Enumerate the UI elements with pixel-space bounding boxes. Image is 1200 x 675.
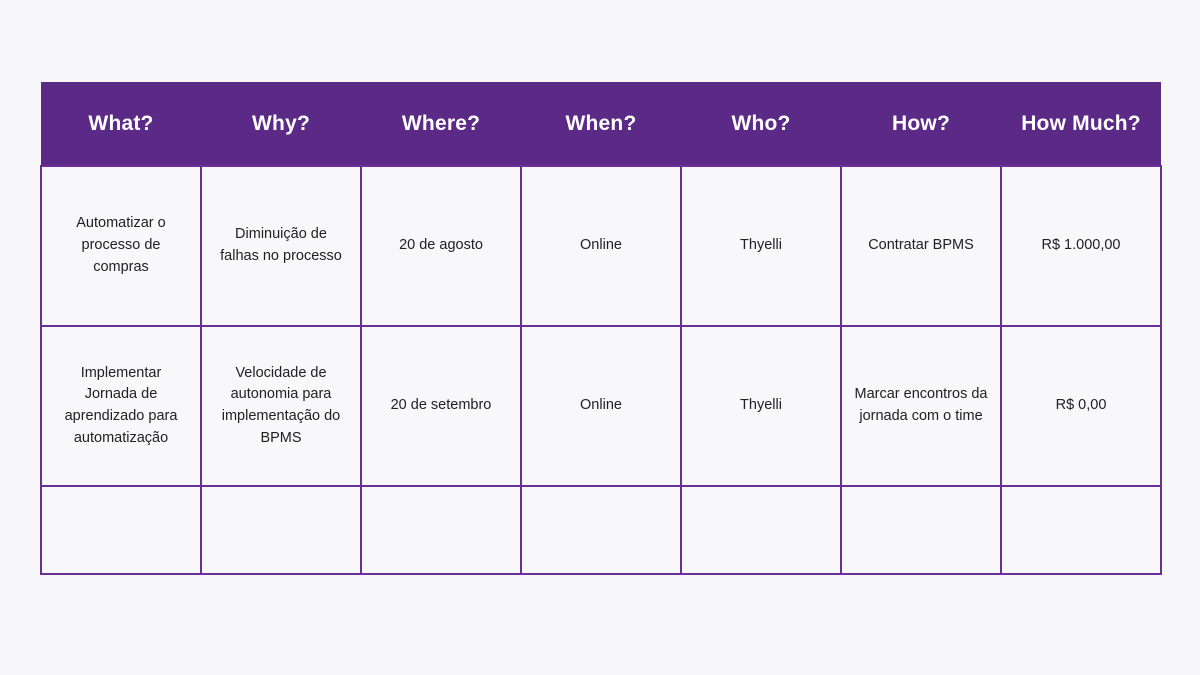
cell-how[interactable]: Contratar BPMS — [841, 166, 1001, 326]
table-container: What? Why? Where? When? Who? How? How Mu… — [40, 82, 1160, 575]
cell-text: Contratar BPMS — [854, 235, 988, 257]
cell-who[interactable] — [681, 486, 841, 574]
cell-text: Implementar Jornada de aprendizado para … — [54, 363, 188, 450]
cell-when[interactable] — [521, 486, 681, 574]
cell-why[interactable]: Velocidade de autonomia para implementaç… — [201, 326, 361, 486]
cell-text: Automatizar o processo de compras — [54, 213, 188, 278]
table-row — [41, 486, 1161, 574]
cell-text: Online — [534, 235, 668, 257]
cell-text: Marcar encontros da jornada com o time — [854, 384, 988, 428]
table-header-row: What? Why? Where? When? Who? How? How Mu… — [41, 82, 1161, 166]
cell-how[interactable]: Marcar encontros da jornada com o time — [841, 326, 1001, 486]
column-header-what[interactable]: What? — [41, 82, 201, 166]
column-header-how[interactable]: How? — [841, 82, 1001, 166]
page-root: What? Why? Where? When? Who? How? How Mu… — [0, 0, 1200, 675]
cell-what[interactable]: Automatizar o processo de compras — [41, 166, 201, 326]
cell-text: Thyelli — [694, 395, 828, 417]
cell-who[interactable]: Thyelli — [681, 166, 841, 326]
column-header-how-much[interactable]: How Much? — [1001, 82, 1161, 166]
cell-text: R$ 1.000,00 — [1014, 235, 1148, 257]
table-body: Automatizar o processo de compras Diminu… — [41, 166, 1161, 574]
cell-text: 20 de setembro — [374, 395, 508, 417]
cell-text: Diminuição de falhas no processo — [214, 224, 348, 268]
cell-where[interactable]: 20 de setembro — [361, 326, 521, 486]
cell-where[interactable] — [361, 486, 521, 574]
table-row: Automatizar o processo de compras Diminu… — [41, 166, 1161, 326]
cell-why[interactable]: Diminuição de falhas no processo — [201, 166, 361, 326]
cell-who[interactable]: Thyelli — [681, 326, 841, 486]
cell-text: R$ 0,00 — [1014, 395, 1148, 417]
cell-what[interactable] — [41, 486, 201, 574]
cell-how-much[interactable] — [1001, 486, 1161, 574]
table-header: What? Why? Where? When? Who? How? How Mu… — [41, 82, 1161, 166]
5w2h-action-plan-table: What? Why? Where? When? Who? How? How Mu… — [40, 82, 1162, 575]
cell-when[interactable]: Online — [521, 166, 681, 326]
cell-text: Velocidade de autonomia para implementaç… — [214, 363, 348, 450]
cell-text: Online — [534, 395, 668, 417]
cell-text: Thyelli — [694, 235, 828, 257]
cell-text: 20 de agosto — [374, 235, 508, 257]
column-header-where[interactable]: Where? — [361, 82, 521, 166]
cell-what[interactable]: Implementar Jornada de aprendizado para … — [41, 326, 201, 486]
column-header-why[interactable]: Why? — [201, 82, 361, 166]
cell-how-much[interactable]: R$ 1.000,00 — [1001, 166, 1161, 326]
column-header-when[interactable]: When? — [521, 82, 681, 166]
cell-how-much[interactable]: R$ 0,00 — [1001, 326, 1161, 486]
cell-where[interactable]: 20 de agosto — [361, 166, 521, 326]
table-row: Implementar Jornada de aprendizado para … — [41, 326, 1161, 486]
cell-how[interactable] — [841, 486, 1001, 574]
cell-why[interactable] — [201, 486, 361, 574]
cell-when[interactable]: Online — [521, 326, 681, 486]
column-header-who[interactable]: Who? — [681, 82, 841, 166]
